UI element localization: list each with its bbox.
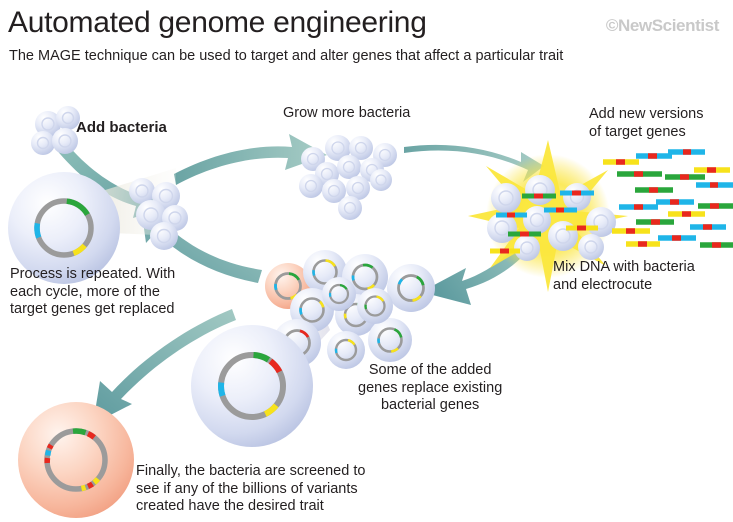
dna-fragment-pool bbox=[603, 152, 733, 245]
cell-with-plasmid bbox=[357, 288, 393, 324]
label-some-added-genes: Some of the added genes replace existing… bbox=[358, 362, 502, 415]
infographic-canvas: Automated genome engineering The MAGE te… bbox=[0, 0, 733, 522]
cell-with-plasmid bbox=[322, 277, 356, 311]
cluster-starter-bacteria bbox=[31, 106, 80, 155]
magnified-cell-modified bbox=[191, 325, 313, 447]
cell-with-plasmid bbox=[368, 318, 412, 362]
final-screened-cell bbox=[18, 402, 134, 518]
label-mix-dna-electrocute: Mix DNA with bacteria and electrocute bbox=[553, 259, 695, 294]
label-add-bacteria: Add bacteria bbox=[76, 119, 167, 137]
label-finally-screened: Finally, the bacteria are screened to se… bbox=[136, 463, 365, 516]
label-process-repeated: Process is repeated. With each cycle, mo… bbox=[10, 266, 175, 319]
cell-with-plasmid bbox=[387, 264, 435, 312]
label-add-new-versions: Add new versions of target genes bbox=[589, 106, 703, 141]
label-grow-more-bacteria: Grow more bacteria bbox=[283, 105, 410, 123]
cluster-grown-bacteria bbox=[299, 135, 397, 220]
